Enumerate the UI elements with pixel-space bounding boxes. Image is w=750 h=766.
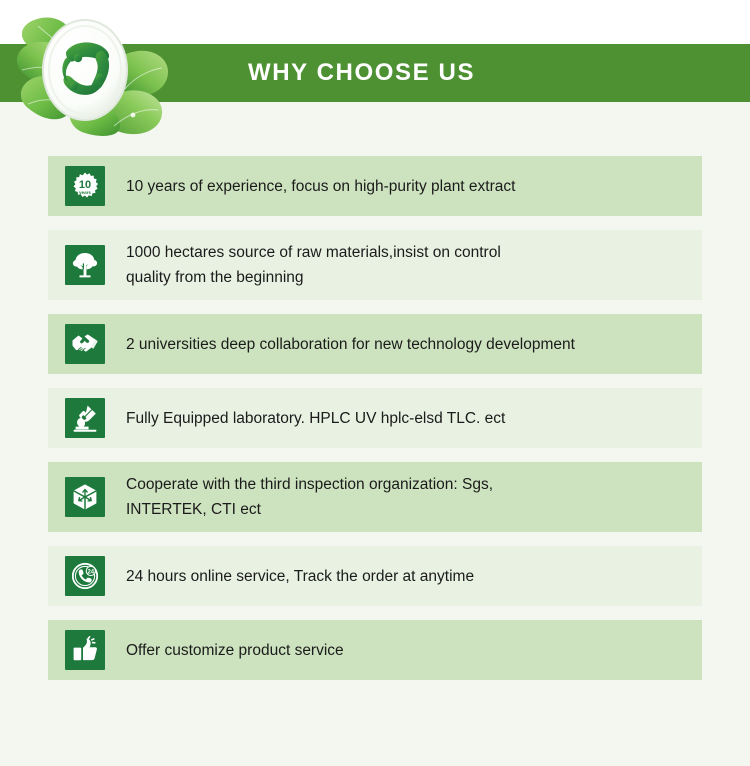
feature-row-4: Fully Equipped laboratory. HPLC UV hplc-… <box>48 388 702 448</box>
microscope-icon <box>65 398 105 438</box>
feature-text: 2 universities deep collaboration for ne… <box>126 332 589 357</box>
feature-text: Offer customize product service <box>126 638 358 663</box>
10-years-badge-icon: 10 years <box>65 166 105 206</box>
emblem-disc <box>43 20 127 120</box>
feature-row-3: 2 universities deep collaboration for ne… <box>48 314 702 374</box>
thumbs-up-icon <box>65 630 105 670</box>
feature-text: Fully Equipped laboratory. HPLC UV hplc-… <box>126 406 519 431</box>
feature-text: 24 hours online service, Track the order… <box>126 564 488 589</box>
page-title: WHY CHOOSE US <box>248 58 475 88</box>
feature-row-7: Offer customize product service <box>48 620 702 680</box>
tree-icon <box>65 245 105 285</box>
feature-row-5: Cooperate with the third inspection orga… <box>48 462 702 532</box>
package-inspection-icon <box>65 477 105 517</box>
feature-text: 10 years of experience, focus on high-pu… <box>126 174 529 199</box>
why-choose-us-banner: WHY CHOOSE US <box>0 0 750 766</box>
svg-text:years: years <box>79 190 91 195</box>
feature-text: 1000 hectares source of raw materials,in… <box>126 240 515 290</box>
feature-row-6: 24 24 hours online service, Track the or… <box>48 546 702 606</box>
feature-row-2: 1000 hectares source of raw materials,in… <box>48 230 702 300</box>
feature-row-1: 10 years 10 years of experience, focus o… <box>48 156 702 216</box>
handshake-icon <box>65 324 105 364</box>
feature-list: 10 years 10 years of experience, focus o… <box>48 156 702 680</box>
svg-text:24: 24 <box>87 569 94 575</box>
leaf-circle-logo <box>12 12 222 138</box>
feature-text: Cooperate with the third inspection orga… <box>126 472 507 522</box>
24-hour-phone-icon: 24 <box>65 556 105 596</box>
